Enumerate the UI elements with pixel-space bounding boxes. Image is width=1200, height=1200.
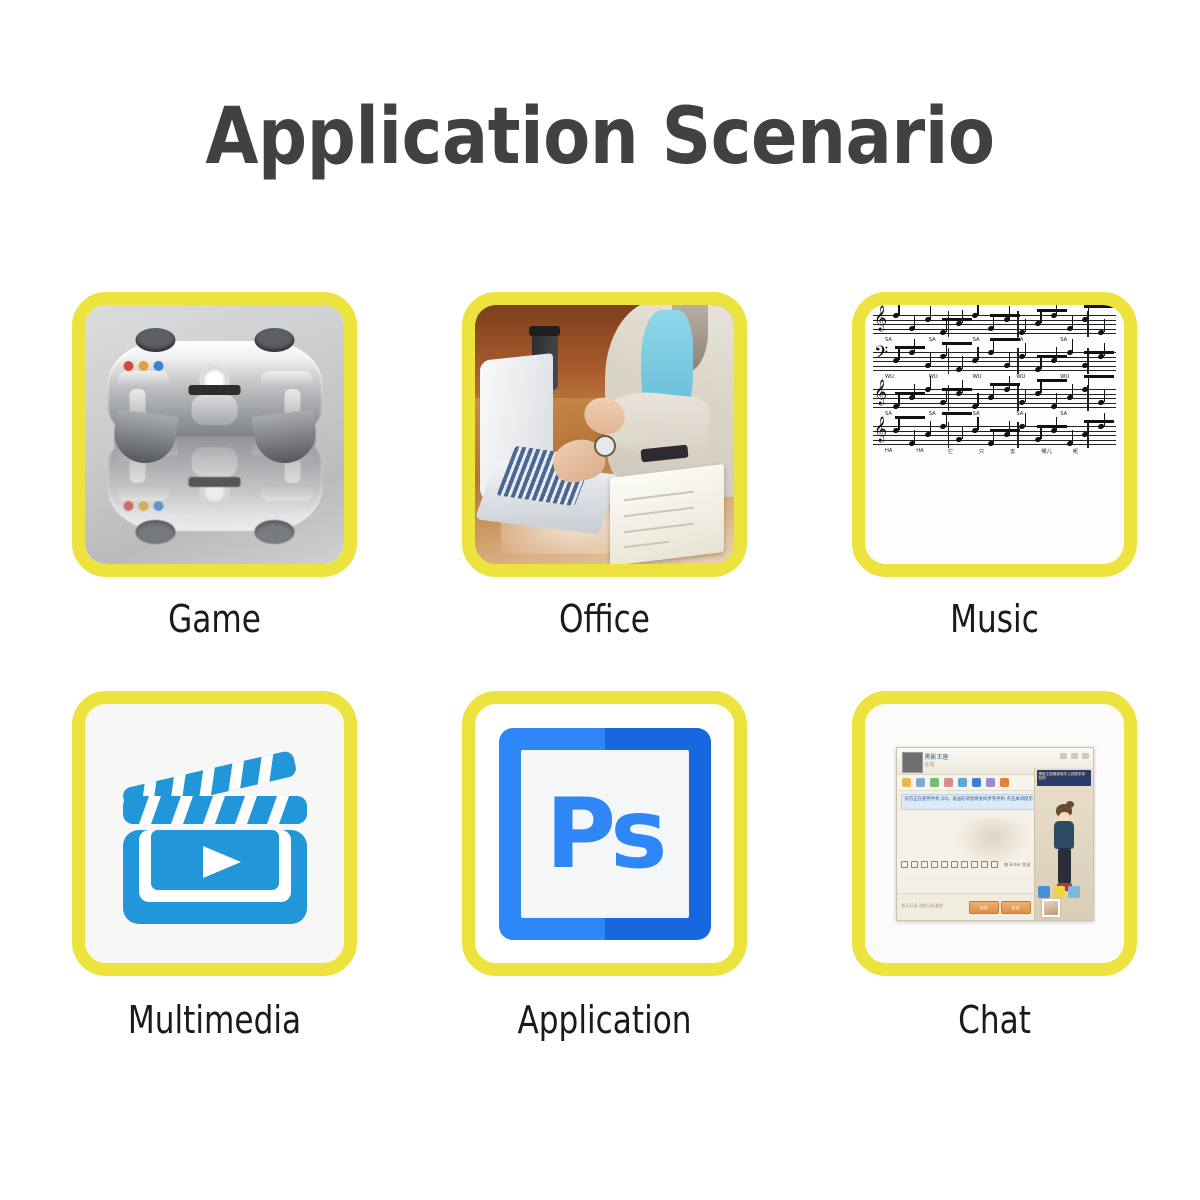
music-lyric: SA (929, 411, 936, 417)
tile-chat[interactable]: 黑影王座 在线 (852, 691, 1137, 976)
multimedia-background (85, 704, 344, 963)
music-lyric: SA (1060, 337, 1067, 343)
contact-status: 在线 (925, 761, 935, 768)
qq-footer: 聊天记录·消息记录漫游 关闭 发送 (897, 893, 1035, 920)
page-title: Application Scenario (72, 92, 1128, 182)
qq-message-area[interactable]: 按 Enter 发送 (897, 812, 1035, 874)
qq-side-thumbnail[interactable] (1041, 898, 1061, 918)
tile-game[interactable] (72, 292, 357, 577)
music-lyric: SA (1016, 411, 1023, 417)
music-lyric: SA (973, 337, 980, 343)
window-controls[interactable] (1060, 753, 1089, 759)
music-lyric: 呢 (1073, 448, 1078, 455)
photoshop-ps-icon: Ps (499, 728, 711, 940)
scenario-row-2: Multimedia Ps Applicat (72, 691, 1132, 1042)
qq-side-ad-text[interactable]: 黑影王座最新版本上线快来体验吧 (1037, 770, 1091, 786)
photoshop-logo-text: Ps (546, 786, 664, 882)
tile-application[interactable]: Ps (462, 691, 747, 976)
music-system: 𝄞HAHA它只去哪儿呢 (869, 422, 1120, 457)
qq-send-button[interactable]: 发送 (1001, 901, 1031, 914)
chat-background: 黑影王座 在线 (865, 704, 1124, 963)
game-controller-icon (107, 341, 322, 437)
music-lyric: HA (916, 448, 923, 454)
music-lyric-row: HAHA它只去哪儿呢 (869, 448, 1120, 457)
qq-banner-text-2[interactable]: 点击关闭提示 (1006, 797, 1032, 802)
tile-label-multimedia: Multimedia (98, 998, 332, 1042)
application-scenario-page: Application Scenario (0, 0, 1200, 1200)
treble-clef-icon: 𝄞 (874, 419, 887, 441)
qq-side-panel: 黑影王座最新版本上线快来体验吧 (1034, 768, 1093, 920)
music-lyric: WU (973, 374, 982, 380)
sheet-music-icon: 𝄞SASASASASA𝄢WUWUWUWUWU𝄞SASASASASA𝄞HAHA它只… (865, 305, 1124, 564)
music-staff: 𝄞 (873, 422, 1116, 448)
office-photo-icon (475, 305, 734, 564)
music-staff: 𝄢 (873, 348, 1116, 374)
music-lyric: HA (885, 448, 892, 454)
tile-label-chat: Chat (878, 998, 1112, 1042)
music-lyric-row: WUWUWUWUWU (869, 374, 1120, 383)
treble-clef-icon: 𝄢 (874, 345, 888, 367)
music-staff: 𝄞 (873, 311, 1116, 337)
tile-music[interactable]: 𝄞SASASASASA𝄢WUWUWUWUWU𝄞SASASASASA𝄞HAHA它只… (852, 292, 1137, 577)
contact-name: 黑影王座 (925, 752, 949, 761)
tile-chat-image: 黑影王座 在线 (865, 704, 1124, 963)
scenario-cell-office[interactable]: Office (462, 292, 747, 641)
treble-clef-icon: 𝄞 (874, 308, 887, 330)
music-lyric: 它 (948, 448, 953, 455)
music-lyric: 哪儿 (1041, 448, 1051, 455)
tile-office-image (475, 305, 734, 564)
clapperboard-play-icon (115, 738, 315, 930)
qq-input-toolbar[interactable] (901, 861, 998, 868)
qq-avatar-character-icon (1049, 804, 1079, 896)
application-background: Ps (475, 704, 734, 963)
avatar (902, 752, 923, 773)
tile-application-image: Ps (475, 704, 734, 963)
tile-label-office: Office (488, 597, 722, 641)
tile-label-game: Game (98, 597, 332, 641)
qq-side-icons[interactable] (1038, 886, 1080, 898)
qq-chat-window-screenshot: 黑影王座 在线 (896, 747, 1094, 921)
qq-send-hint: 按 Enter 发送 (1004, 862, 1030, 868)
music-lyric: 只 (979, 448, 984, 455)
tile-music-image: 𝄞SASASASASA𝄢WUWUWUWUWU𝄞SASASASASA𝄞HAHA它只… (865, 305, 1124, 564)
scenario-cell-multimedia[interactable]: Multimedia (72, 691, 357, 1042)
music-lyric: WU (1016, 374, 1025, 380)
tile-multimedia[interactable] (72, 691, 357, 976)
tile-multimedia-image (85, 704, 344, 963)
qq-close-button[interactable]: 关闭 (969, 901, 999, 914)
tile-label-application: Application (488, 998, 722, 1042)
scenario-grid: Game (72, 292, 1132, 1042)
music-lyric: SA (973, 411, 980, 417)
music-lyric: SA (1060, 411, 1067, 417)
qq-footer-text: 聊天记录·消息记录漫游 (902, 903, 943, 909)
music-lyric: 去 (1010, 448, 1015, 455)
tile-label-music: Music (878, 597, 1112, 641)
scenario-row-1: Game (72, 292, 1132, 641)
scenario-cell-application[interactable]: Ps Application (462, 691, 747, 1042)
music-system: 𝄢WUWUWUWUWU (869, 348, 1120, 383)
music-lyric: SA (929, 337, 936, 343)
tile-game-image (85, 305, 344, 564)
scenario-cell-game[interactable]: Game (72, 292, 357, 641)
treble-clef-icon: 𝄞 (874, 382, 887, 404)
tile-office[interactable] (462, 292, 747, 577)
scenario-cell-chat[interactable]: 黑影王座 在线 (852, 691, 1137, 1042)
qq-banner-text: 对方正在使用手机 QQ，发送的消息将会同步到手机 (905, 797, 1006, 802)
music-staff: 𝄞 (873, 385, 1116, 411)
music-system: 𝄞SASASASASA (869, 385, 1120, 420)
scenario-cell-music[interactable]: 𝄞SASASASASA𝄢WUWUWUWUWU𝄞SASASASASA𝄞HAHA它只… (852, 292, 1137, 641)
